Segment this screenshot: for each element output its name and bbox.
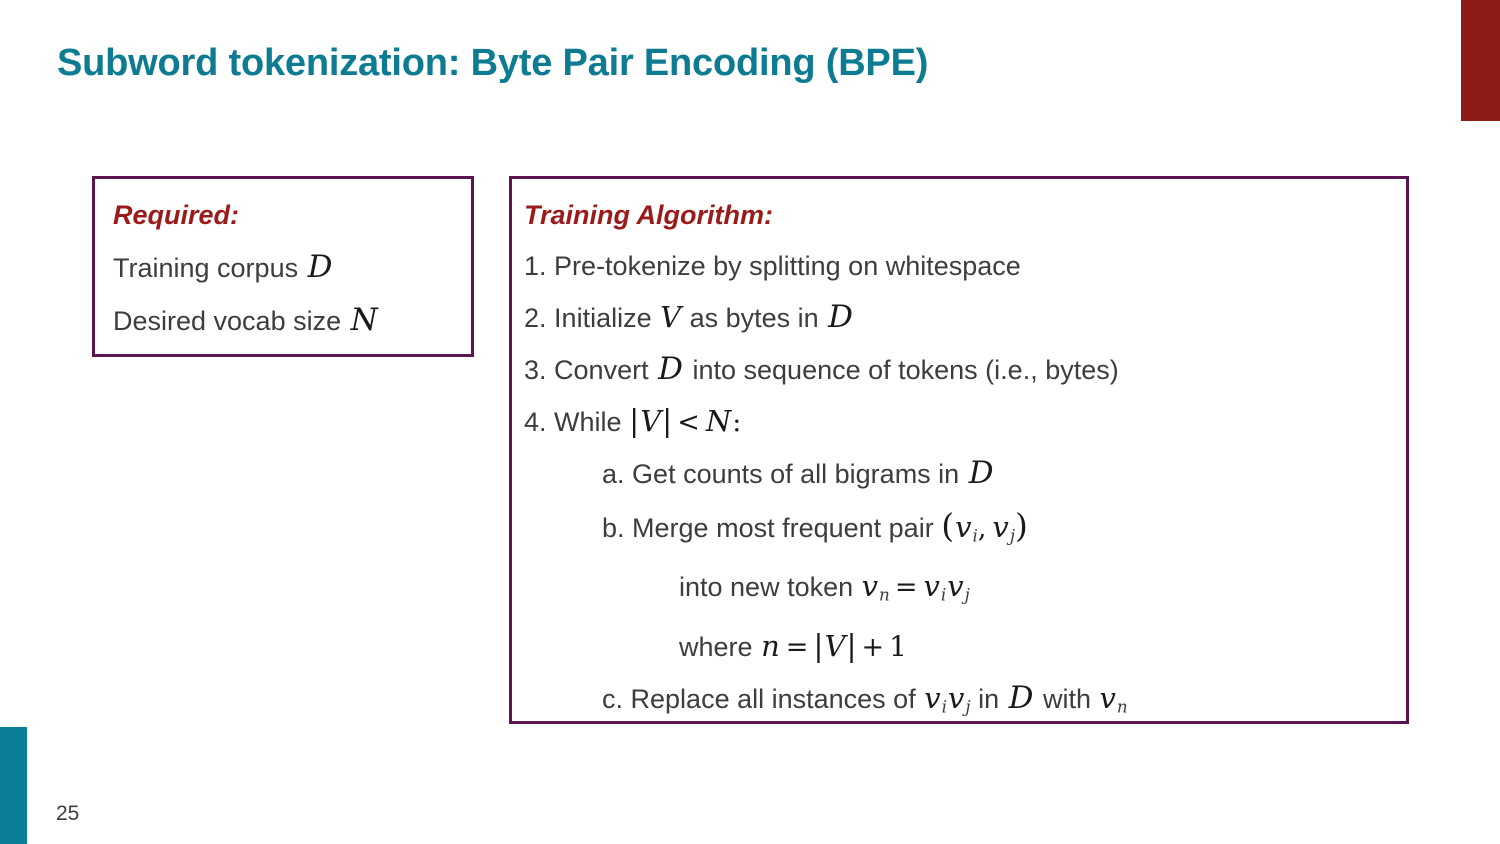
required-line-1-text: Training corpus	[113, 253, 298, 283]
math-var-v: v	[991, 510, 1009, 544]
math-pair-vi-vj: (vi,vj)	[941, 500, 1028, 562]
substep-a-label: a.	[602, 459, 625, 489]
step-2-text-b: as bytes in	[690, 303, 819, 333]
math-op-equals: =	[890, 572, 923, 603]
math-bar-right: |	[846, 629, 856, 664]
math-var-v: v	[946, 569, 964, 603]
step-4-text: While	[554, 407, 622, 437]
substep-b2-text: into new token	[679, 572, 853, 602]
step-1-label: 1.	[524, 251, 547, 281]
math-bar-left: |	[813, 629, 823, 664]
required-panel: Required: Training corpus D Desired voca…	[92, 176, 474, 357]
substep-a-text: Get counts of all bigrams in	[632, 459, 959, 489]
substep-b-text: Merge most frequent pair	[632, 513, 934, 543]
math-n-equals-cardinality-V-plus-one: n=|V|+1	[760, 621, 907, 673]
math-comma: ,	[978, 513, 992, 544]
math-op-less-than: <	[672, 407, 705, 438]
algorithm-step-2: 2. Initialize V as bytes in D	[524, 292, 1406, 344]
algorithm-step-3: 3. Convert D into sequence of tokens (i.…	[524, 344, 1406, 396]
math-var-V: V	[659, 292, 682, 343]
algorithm-panel-heading: Training Algorithm:	[524, 201, 1406, 231]
math-vn: vn	[1099, 673, 1128, 733]
math-var-V: V	[823, 629, 846, 663]
math-var-N: N	[349, 294, 380, 346]
math-var-D: D	[826, 292, 855, 343]
math-subscript-n: n	[1117, 697, 1128, 717]
step-3-text-b: into sequence of tokens (i.e., bytes)	[692, 355, 1118, 385]
required-line-training-corpus: Training corpus D	[113, 241, 471, 294]
page-title: Subword tokenization: Byte Pair Encoding…	[57, 42, 928, 85]
math-var-V: V	[639, 404, 662, 438]
step-1-text: Pre-tokenize by splitting on whitespace	[554, 251, 1021, 281]
page-number: 25	[56, 802, 79, 826]
math-subscript-j: j	[965, 697, 970, 717]
algorithm-substep-c: c. Replace all instances of vivj in D wi…	[524, 673, 1406, 733]
algorithm-substep-b-continued: into new token vn=vivj	[524, 561, 1406, 621]
math-var-v: v	[954, 510, 972, 544]
step-2-label: 2.	[524, 303, 547, 333]
algorithm-substep-b-where: where n=|V|+1	[524, 621, 1406, 673]
math-number-one: 1	[889, 630, 907, 663]
math-vi-vj: vivj	[923, 673, 970, 733]
required-panel-heading: Required:	[113, 201, 471, 231]
math-bar-right: |	[662, 404, 672, 439]
math-assign-vn: vn=vivj	[861, 561, 970, 621]
math-var-D: D	[1007, 673, 1036, 724]
substep-c-text-a: Replace all instances of	[631, 684, 916, 714]
step-2-text-a: Initialize	[554, 303, 652, 333]
math-op-plus: +	[857, 632, 890, 663]
math-paren-left: (	[941, 506, 954, 545]
algorithm-substep-a: a. Get counts of all bigrams in D	[524, 448, 1406, 500]
math-cardinality-V: |V|	[629, 396, 672, 448]
math-var-v: v	[1099, 681, 1117, 715]
math-var-D: D	[967, 448, 996, 499]
math-var-N: N	[705, 396, 732, 447]
math-colon: :	[732, 407, 741, 438]
substep-c-label: c.	[602, 684, 623, 714]
substep-c-text-c: with	[1043, 684, 1091, 714]
math-var-v: v	[923, 681, 941, 715]
required-line-vocab-size: Desired vocab size N	[113, 294, 471, 347]
math-op-equals: =	[781, 632, 814, 663]
math-var-v: v	[922, 569, 940, 603]
algorithm-substep-b: b. Merge most frequent pair (vi,vj)	[524, 500, 1406, 562]
required-line-2-text: Desired vocab size	[113, 306, 341, 336]
algorithm-panel: Training Algorithm: 1. Pre-tokenize by s…	[509, 176, 1409, 724]
math-paren-right: )	[1015, 506, 1028, 545]
math-var-D: D	[656, 344, 685, 395]
step-3-label: 3.	[524, 355, 547, 385]
math-subscript-n: n	[879, 585, 890, 605]
step-3-text-a: Convert	[554, 355, 649, 385]
math-var-D: D	[306, 241, 335, 293]
math-var-v: v	[947, 681, 965, 715]
math-var-v: v	[861, 569, 879, 603]
math-bar-left: |	[629, 404, 639, 439]
algorithm-step-1: 1. Pre-tokenize by splitting on whitespa…	[524, 241, 1406, 292]
accent-bar-red-top-right	[1461, 0, 1500, 121]
accent-bar-teal-bottom-left	[0, 727, 27, 844]
step-4-label: 4.	[524, 407, 547, 437]
math-subscript-j: j	[965, 585, 970, 605]
substep-b3-text: where	[679, 632, 753, 662]
substep-c-text-b: in	[978, 684, 999, 714]
substep-b-label: b.	[602, 513, 625, 543]
algorithm-step-4: 4. While |V|<N:	[524, 396, 1406, 448]
math-var-n: n	[760, 629, 781, 663]
